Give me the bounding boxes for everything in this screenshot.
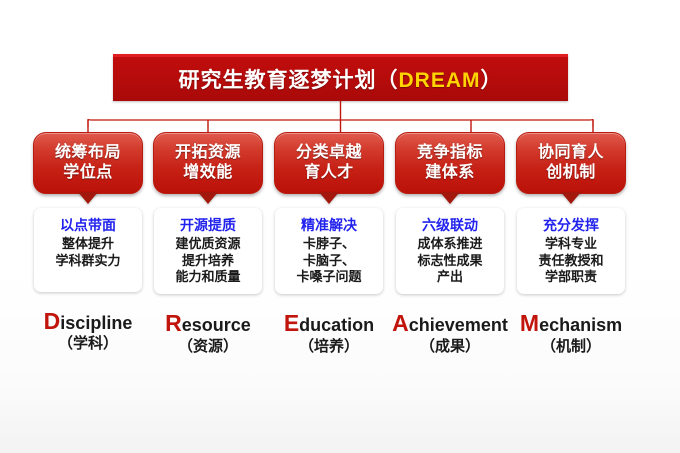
acronym-word: Discipline — [22, 308, 154, 334]
acronym-label-discipline: Discipline （学科） — [22, 308, 154, 355]
acronym-word: Education — [263, 310, 395, 336]
down-arrow-icon — [319, 192, 339, 204]
connector-bus — [88, 119, 593, 127]
acronym-rest: iscipline — [60, 313, 132, 333]
detail-card-education[interactable]: 精准解决 卡脖子、 卡脑子、 卡嗓子问题 — [275, 208, 383, 294]
acronym-initial: R — [165, 310, 182, 336]
pillar-line-2: 育人才 — [304, 163, 354, 183]
acronym-chinese: （学科） — [22, 334, 154, 354]
pillar-line-2: 建体系 — [425, 163, 475, 183]
acronym-initial: M — [520, 310, 539, 336]
acronym-label-mechanism: Mechanism （机制） — [505, 310, 637, 357]
acronym-chinese: （机制） — [505, 337, 637, 357]
detail-card-resource[interactable]: 开源提质 建优质资源 提升培养 能力和质量 — [154, 208, 262, 294]
card-heading: 开源提质 — [158, 216, 258, 234]
pillar-line-2: 创机制 — [546, 163, 596, 183]
card-body-line: 学部职责 — [521, 269, 621, 286]
pillar-line-1: 开拓资源 — [175, 143, 241, 163]
card-body-line: 标志性成果 — [400, 253, 500, 270]
down-arrow-icon — [561, 192, 581, 204]
pillar-column-achievement: 竞争指标 建体系 六级联动 成体系推进 标志性成果 产出 Achievement… — [390, 132, 510, 357]
acronym-initial: A — [392, 310, 409, 336]
detail-card-achievement[interactable]: 六级联动 成体系推进 标志性成果 产出 — [396, 208, 504, 294]
acronym-label-education: Education （培养） — [263, 310, 395, 357]
acronym-word: Resource — [142, 310, 274, 336]
card-body-line: 学科专业 — [521, 236, 621, 253]
diagram-title-text: 研究生教育逐梦计划（DREAM） — [179, 64, 503, 94]
card-body-line: 产出 — [400, 269, 500, 286]
acronym-rest: chievement — [409, 315, 508, 335]
acronym-word: Mechanism — [505, 310, 637, 336]
title-accent-dream: DREAM — [399, 69, 481, 92]
diagram-canvas: 研究生教育逐梦计划（DREAM） 统筹布局 学位点 以点带面 整体提升 学科群实… — [0, 0, 680, 453]
acronym-initial: E — [284, 310, 299, 336]
card-body-line: 成体系推进 — [400, 236, 500, 253]
card-body-line: 卡嗓子问题 — [279, 269, 379, 286]
card-body-line: 学科群实力 — [38, 253, 138, 270]
pillar-line-1: 竞争指标 — [417, 143, 483, 163]
down-arrow-icon — [78, 192, 98, 204]
acronym-rest: echanism — [539, 315, 622, 335]
acronym-word: Achievement — [384, 310, 516, 336]
pillar-line-1: 协同育人 — [538, 143, 604, 163]
acronym-chinese: （资源） — [142, 337, 274, 357]
card-body-line: 建优质资源 — [158, 236, 258, 253]
card-body-line: 提升培养 — [158, 253, 258, 270]
title-prefix: 研究生教育逐梦计划（ — [179, 69, 399, 92]
card-body-line: 能力和质量 — [158, 269, 258, 286]
diagram-title-banner: 研究生教育逐梦计划（DREAM） — [113, 54, 568, 101]
pillar-box-education[interactable]: 分类卓越 育人才 — [274, 132, 384, 194]
pillar-box-resource[interactable]: 开拓资源 增效能 — [153, 132, 263, 194]
card-body-line: 卡脖子、 — [279, 236, 379, 253]
pillar-column-mechanism: 协同育人 创机制 充分发挥 学科专业 责任教授和 学部职责 Mechanism … — [511, 132, 631, 357]
pillar-line-2: 学位点 — [63, 163, 113, 183]
acronym-initial: D — [44, 308, 61, 334]
acronym-chinese: （培养） — [263, 337, 395, 357]
card-heading: 充分发挥 — [521, 216, 621, 234]
pillar-column-education: 分类卓越 育人才 精准解决 卡脖子、 卡脑子、 卡嗓子问题 Education … — [269, 132, 389, 357]
pillar-box-achievement[interactable]: 竞争指标 建体系 — [395, 132, 505, 194]
card-body-line: 卡脑子、 — [279, 253, 379, 270]
detail-card-mechanism[interactable]: 充分发挥 学科专业 责任教授和 学部职责 — [517, 208, 625, 294]
down-arrow-icon — [198, 192, 218, 204]
card-body-line: 整体提升 — [38, 236, 138, 253]
acronym-chinese: （成果） — [384, 337, 516, 357]
card-heading: 以点带面 — [38, 216, 138, 234]
title-suffix: ） — [481, 69, 503, 92]
acronym-rest: ducation — [299, 315, 374, 335]
pillar-box-mechanism[interactable]: 协同育人 创机制 — [516, 132, 626, 194]
acronym-rest: esource — [182, 315, 251, 335]
detail-card-discipline[interactable]: 以点带面 整体提升 学科群实力 — [34, 208, 142, 292]
pillar-column-resource: 开拓资源 增效能 开源提质 建优质资源 提升培养 能力和质量 Resource … — [148, 132, 268, 357]
pillar-line-1: 统筹布局 — [55, 143, 121, 163]
down-arrow-icon — [440, 192, 460, 204]
pillar-column-discipline: 统筹布局 学位点 以点带面 整体提升 学科群实力 Discipline （学科） — [28, 132, 148, 355]
card-heading: 精准解决 — [279, 216, 379, 234]
acronym-label-resource: Resource （资源） — [142, 310, 274, 357]
pillar-line-1: 分类卓越 — [296, 143, 362, 163]
card-heading: 六级联动 — [400, 216, 500, 234]
card-body-line: 责任教授和 — [521, 253, 621, 270]
pillar-box-discipline[interactable]: 统筹布局 学位点 — [33, 132, 143, 194]
pillar-line-2: 增效能 — [183, 163, 233, 183]
acronym-label-achievement: Achievement （成果） — [384, 310, 516, 357]
